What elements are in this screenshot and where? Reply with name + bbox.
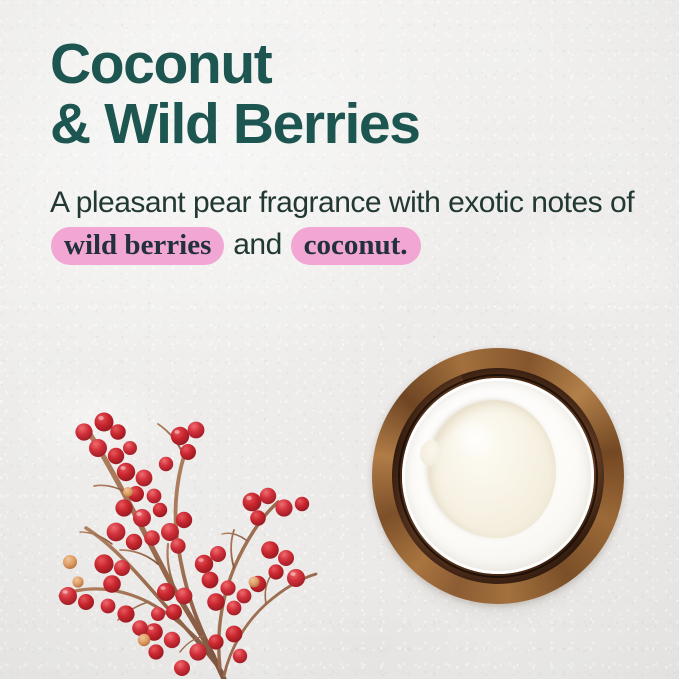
- highlight-coconut: coconut.: [291, 227, 421, 265]
- page-title: Coconut & Wild Berries: [50, 34, 640, 154]
- highlight-wild-berries: wild berries: [51, 227, 224, 265]
- coconut-cavity-highlight: [450, 418, 498, 458]
- product-banner: Coconut & Wild Berries A pleasant pear f…: [0, 0, 679, 679]
- coconut-cavity: [428, 400, 556, 538]
- copy-block: Coconut & Wild Berries A pleasant pear f…: [50, 34, 640, 266]
- coconut-image: [372, 348, 624, 604]
- subtitle-segment-1: A pleasant pear fragrance with exotic no…: [50, 186, 634, 219]
- berry-branch-image: [8, 296, 348, 679]
- subtitle-segment-2: and: [225, 228, 289, 261]
- subtitle: A pleasant pear fragrance with exotic no…: [50, 154, 640, 266]
